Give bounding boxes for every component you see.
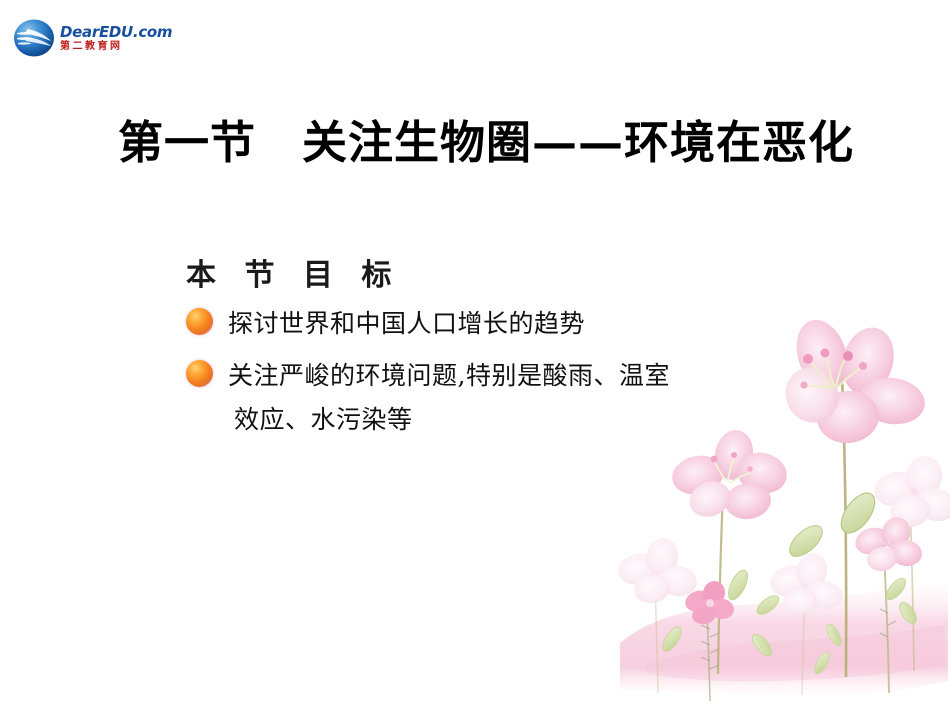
stem xyxy=(718,489,723,674)
ground-wash xyxy=(620,583,948,695)
leaf xyxy=(812,650,833,676)
leaf xyxy=(754,592,782,617)
flower-ruffled-small xyxy=(682,579,735,626)
logo-brand-cn-text: 第二教育网 xyxy=(60,42,172,52)
list-item-text: 关注严峻的环境问题,特别是酸雨、温室 效应、水污染等 xyxy=(228,354,670,442)
leaf xyxy=(725,568,752,603)
list-item: 关注严峻的环境问题,特别是酸雨、温室 效应、水污染等 xyxy=(186,354,846,442)
list-item-line: 效应、水污染等 xyxy=(234,398,670,442)
leaf xyxy=(896,600,919,627)
leaf xyxy=(835,487,881,538)
flower-faint-mid xyxy=(767,550,845,616)
flower-faint-right xyxy=(871,453,950,529)
objectives-section: 本 节 目 标 探讨世界和中国人口增长的趋势 关注严峻的环境问题,特别是酸雨、温… xyxy=(186,258,846,441)
list-item-line: 关注严峻的环境问题,特别是酸雨、温室 xyxy=(228,361,670,390)
stem xyxy=(707,609,710,701)
stem xyxy=(910,501,914,671)
logo-wordmark: DearEDU.com 第二教育网 xyxy=(60,25,172,52)
objectives-heading: 本 节 目 标 xyxy=(186,258,846,294)
list-item: 探讨世界和中国人口增长的趋势 xyxy=(186,302,846,346)
list-item-text: 探讨世界和中国人口增长的趋势 xyxy=(228,302,585,346)
flower-faint-left xyxy=(615,535,699,605)
flower-medium xyxy=(669,427,791,523)
leaf xyxy=(824,622,844,648)
slide-canvas: DearEDU.com 第二教育网 第一节 关注生物圈——环境在恶化 本 节 目… xyxy=(0,0,950,713)
stem xyxy=(884,553,889,693)
logo-brand-text: DearEDU.com xyxy=(60,25,172,40)
leaf xyxy=(659,624,685,654)
stem-sprouts xyxy=(701,609,896,669)
ground-wash-2 xyxy=(645,625,945,681)
stem xyxy=(655,585,658,693)
page-title: 第一节 关注生物圈——环境在恶化 xyxy=(118,118,918,168)
leaf xyxy=(784,520,827,562)
list-item-line: 探讨世界和中国人口增长的趋势 xyxy=(228,309,585,338)
orange-sphere-bullet-icon xyxy=(186,308,213,335)
leaf xyxy=(749,631,775,659)
stem xyxy=(802,575,805,695)
globe-wave-emblem-icon xyxy=(12,18,56,58)
site-logo[interactable]: DearEDU.com 第二教育网 xyxy=(12,16,182,60)
flower-small-right xyxy=(852,514,924,573)
orange-sphere-bullet-icon xyxy=(186,360,213,387)
leaf xyxy=(883,575,909,603)
